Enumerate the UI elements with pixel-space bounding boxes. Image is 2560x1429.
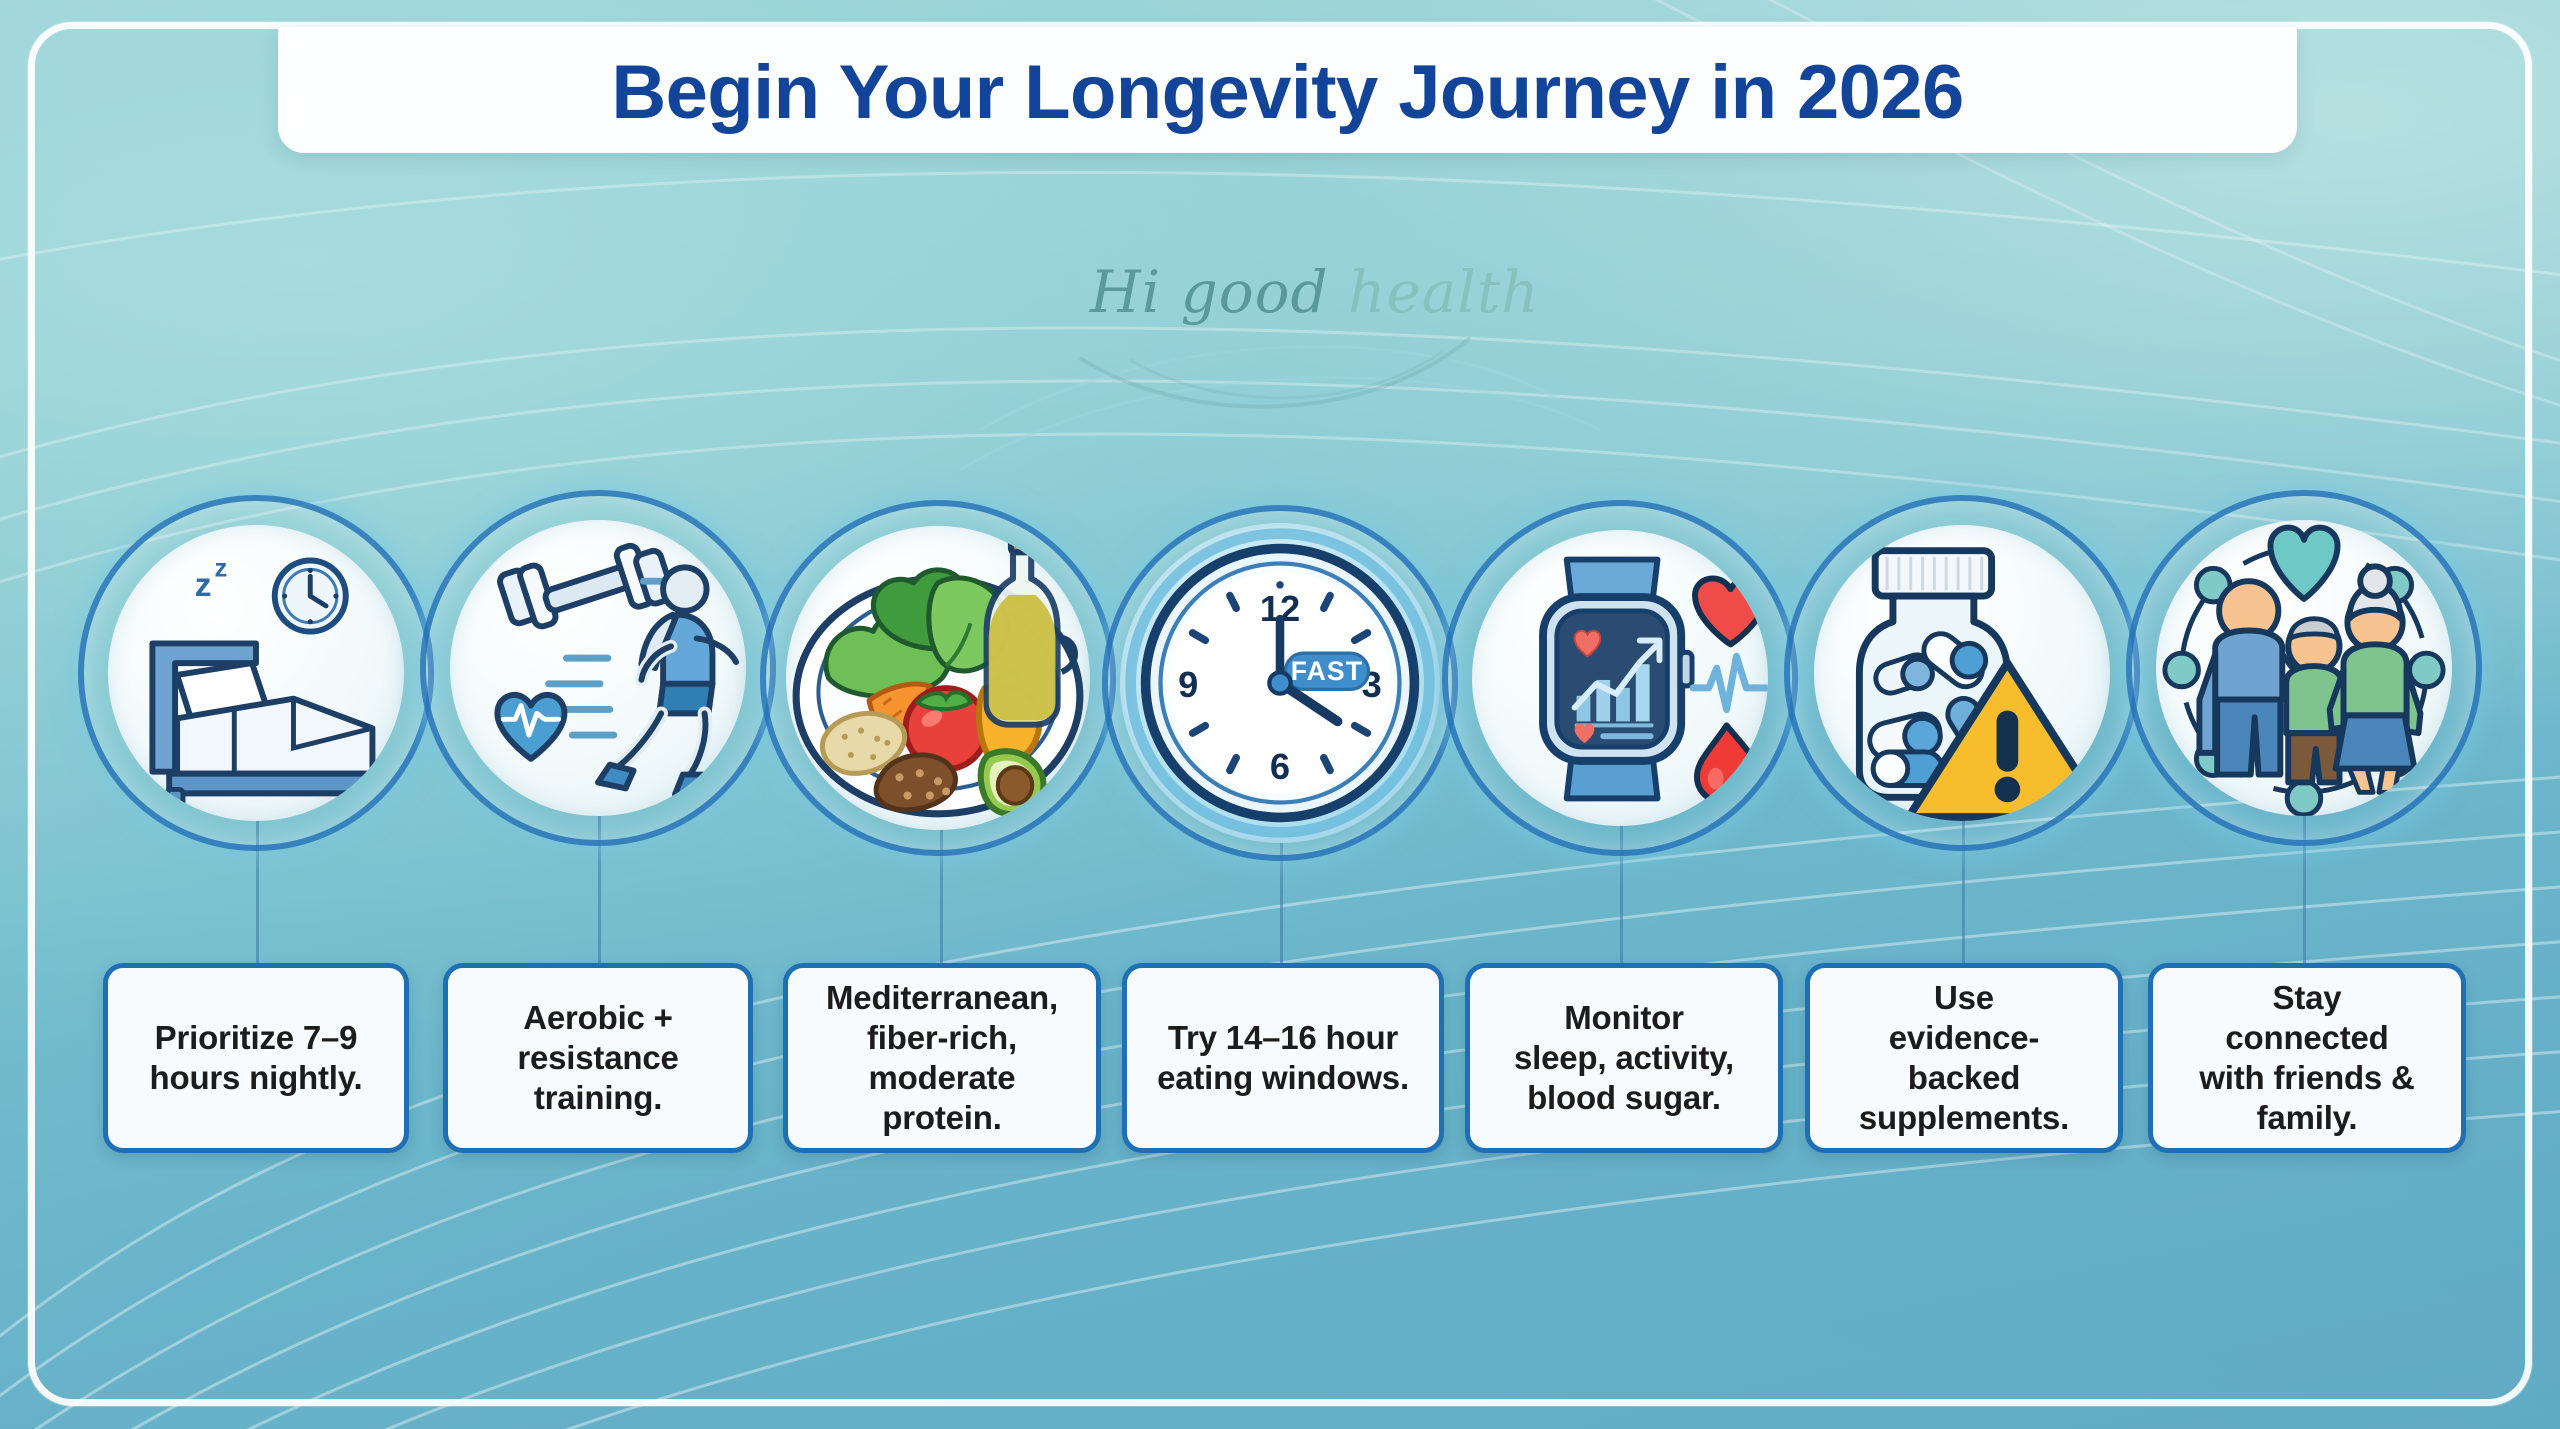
- caption-line: fiber-rich,: [826, 1018, 1058, 1058]
- caption-line: backed: [1859, 1058, 2069, 1098]
- caption-text-nutrition: Mediterranean, fiber-rich, moderate prot…: [826, 978, 1058, 1139]
- caption-line: eating windows.: [1157, 1058, 1409, 1098]
- caption-line: Stay: [2199, 978, 2414, 1018]
- caption-text-sleep: Prioritize 7–9 hours nightly.: [150, 1018, 363, 1099]
- caption-line: Aerobic +: [517, 998, 678, 1038]
- watermark-part-1: Hi good: [1090, 258, 1348, 326]
- family-social-network-heart-icon: [2156, 520, 2452, 816]
- caption-text-tracking: Monitor sleep, activity, blood sugar.: [1514, 998, 1734, 1119]
- caption-box-sleep[interactable]: Prioritize 7–9 hours nightly.: [103, 963, 409, 1153]
- svg-text:FAST: FAST: [1291, 656, 1363, 686]
- caption-line: moderate: [826, 1058, 1058, 1098]
- caption-box-social[interactable]: Stay connected with friends & family.: [2148, 963, 2466, 1153]
- smartwatch-vitals-icon: [1472, 530, 1768, 826]
- caption-line: training.: [517, 1078, 678, 1118]
- caption-line: Try 14–16 hour: [1157, 1018, 1409, 1058]
- watermark-text: Hi good health: [1090, 258, 1510, 326]
- watermark-swoosh-icon: [1070, 318, 1490, 428]
- infographic-canvas: Begin Your Longevity Journey in 2026 Hi …: [0, 0, 2560, 1429]
- caption-line: protein.: [826, 1098, 1058, 1138]
- caption-line: blood sugar.: [1514, 1078, 1734, 1118]
- caption-text-social: Stay connected with friends & family.: [2199, 978, 2414, 1139]
- caption-line: resistance: [517, 1038, 678, 1078]
- caption-box-nutrition[interactable]: Mediterranean, fiber-rich, moderate prot…: [783, 963, 1101, 1153]
- pillar-icon-sleep[interactable]: z z: [78, 495, 434, 851]
- caption-box-supplements[interactable]: Use evidence- backed supplements.: [1805, 963, 2123, 1153]
- caption-line: family.: [2199, 1098, 2414, 1138]
- clock-fast-icon: 12 3 6 9 FAST: [1120, 523, 1440, 843]
- caption-line: with friends &: [2199, 1058, 2414, 1098]
- caption-line: Use: [1859, 978, 2069, 1018]
- caption-line: hours nightly.: [150, 1058, 363, 1098]
- title-card: Begin Your Longevity Journey in 2026: [278, 27, 2297, 153]
- svg-text:6: 6: [1270, 746, 1290, 787]
- caption-box-tracking[interactable]: Monitor sleep, activity, blood sugar.: [1465, 963, 1783, 1153]
- pillar-icon-fasting[interactable]: 12 3 6 9 FAST: [1102, 505, 1458, 861]
- vegetable-plate-olive-oil-icon: [786, 526, 1090, 830]
- bed-clock-sleep-icon: z z: [108, 525, 404, 821]
- pillar-icon-tracking[interactable]: [1442, 500, 1798, 856]
- brand-watermark: Hi good health: [1090, 258, 1510, 428]
- svg-text:z: z: [215, 554, 228, 582]
- pill-bottle-warning-icon: [1814, 525, 2110, 821]
- caption-text-fasting: Try 14–16 hour eating windows.: [1157, 1018, 1409, 1099]
- svg-text:z: z: [195, 567, 212, 604]
- pillar-icon-nutrition[interactable]: [760, 500, 1116, 856]
- pillar-icon-exercise[interactable]: [420, 490, 776, 846]
- pillar-icon-supplements[interactable]: [1784, 495, 2140, 851]
- caption-line: connected: [2199, 1018, 2414, 1058]
- caption-box-fasting[interactable]: Try 14–16 hour eating windows.: [1122, 963, 1444, 1153]
- caption-line: Monitor: [1514, 998, 1734, 1038]
- runner-dumbbell-heartbeat-icon: [450, 520, 746, 816]
- caption-line: evidence-: [1859, 1018, 2069, 1058]
- caption-text-exercise: Aerobic + resistance training.: [517, 998, 678, 1119]
- svg-text:9: 9: [1178, 664, 1198, 705]
- caption-line: Mediterranean,: [826, 978, 1058, 1018]
- caption-box-exercise[interactable]: Aerobic + resistance training.: [443, 963, 753, 1153]
- watermark-part-2: health: [1348, 258, 1539, 326]
- pillar-icon-social[interactable]: [2126, 490, 2482, 846]
- caption-text-supplements: Use evidence- backed supplements.: [1859, 978, 2069, 1139]
- page-title: Begin Your Longevity Journey in 2026: [611, 55, 1963, 131]
- caption-line: supplements.: [1859, 1098, 2069, 1138]
- caption-line: Prioritize 7–9: [150, 1018, 363, 1058]
- caption-line: sleep, activity,: [1514, 1038, 1734, 1078]
